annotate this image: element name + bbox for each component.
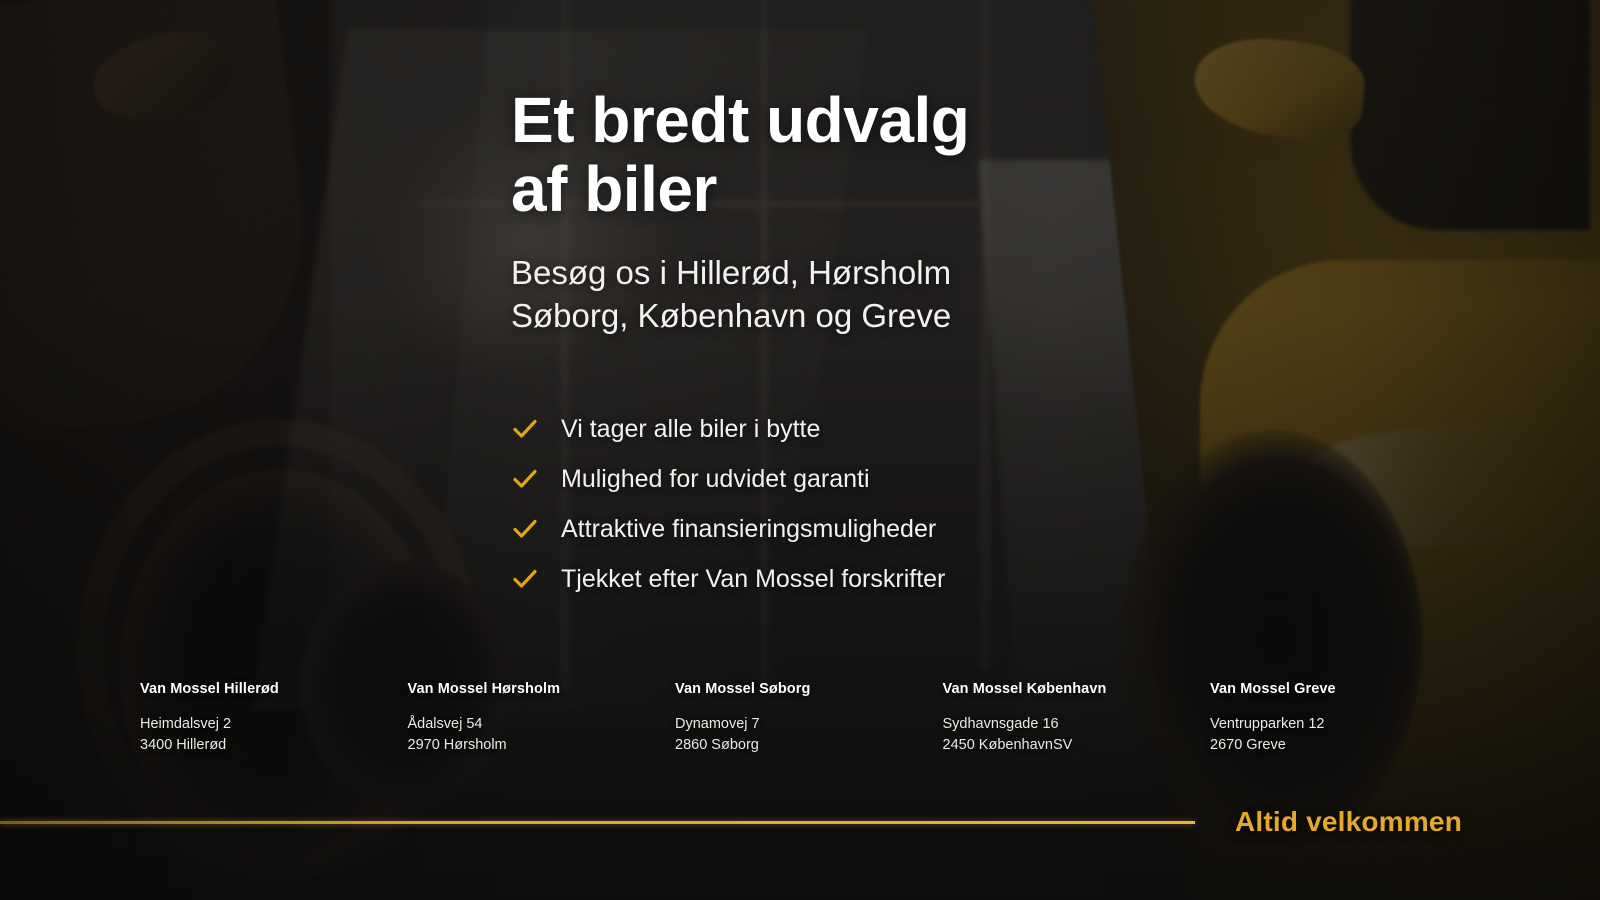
dealer-name: Van Mossel Hillerød (140, 681, 390, 697)
dealer-soborg: Van Mossel Søborg Dynamovej 7 2860 Søbor… (675, 681, 925, 755)
hero-text-block: Et bredt udvalg af biler Besøg os i Hill… (511, 86, 1151, 338)
dealer-name: Van Mossel Hørsholm (408, 681, 658, 697)
usp-list: Vi tager alle biler i bytte Mulighed for… (511, 404, 945, 604)
usp-label: Vi tager alle biler i bytte (561, 415, 820, 444)
dealer-name: Van Mossel Greve (1210, 681, 1460, 697)
check-icon (511, 415, 539, 443)
dealer-hillerod: Van Mossel Hillerød Heimdalsvej 2 3400 H… (140, 681, 390, 755)
hero-subtitle: Besøg os i Hillerød, Hørsholm Søborg, Kø… (511, 252, 1151, 338)
dealer-kobenhavn: Van Mossel København Sydhavnsgade 16 245… (943, 681, 1193, 755)
list-item: Attraktive finansieringsmuligheder (511, 504, 945, 554)
check-icon (511, 465, 539, 493)
dealer-address: Ventrupparken 12 2670 Greve (1210, 714, 1460, 755)
list-item: Mulighed for udvidet garanti (511, 454, 945, 504)
check-icon (511, 515, 539, 543)
list-item: Tjekket efter Van Mossel forskrifter (511, 554, 945, 604)
usp-label: Attraktive finansieringsmuligheder (561, 515, 936, 544)
banner-content: Et bredt udvalg af biler Besøg os i Hill… (0, 0, 1600, 900)
dealer-address: Ådalsvej 54 2970 Hørsholm (408, 714, 658, 755)
dealer-address: Dynamovej 7 2860 Søborg (675, 714, 925, 755)
dealer-greve: Van Mossel Greve Ventrupparken 12 2670 G… (1210, 681, 1460, 755)
dealer-address: Sydhavnsgade 16 2450 KøbenhavnSV (943, 714, 1193, 755)
usp-label: Tjekket efter Van Mossel forskrifter (561, 565, 945, 594)
footer-claim-bar: Altid velkommen (0, 802, 1600, 842)
list-item: Vi tager alle biler i bytte (511, 404, 945, 454)
brand-claim: Altid velkommen (1195, 806, 1600, 838)
dealer-name: Van Mossel København (943, 681, 1193, 697)
dealer-locations: Van Mossel Hillerød Heimdalsvej 2 3400 H… (140, 681, 1460, 755)
gold-divider (0, 821, 1195, 824)
check-icon (511, 565, 539, 593)
dealer-name: Van Mossel Søborg (675, 681, 925, 697)
hero-banner: Et bredt udvalg af biler Besøg os i Hill… (0, 0, 1600, 900)
dealer-horsholm: Van Mossel Hørsholm Ådalsvej 54 2970 Hør… (408, 681, 658, 755)
usp-label: Mulighed for udvidet garanti (561, 465, 870, 494)
dealer-address: Heimdalsvej 2 3400 Hillerød (140, 714, 390, 755)
page-title: Et bredt udvalg af biler (511, 86, 1151, 224)
